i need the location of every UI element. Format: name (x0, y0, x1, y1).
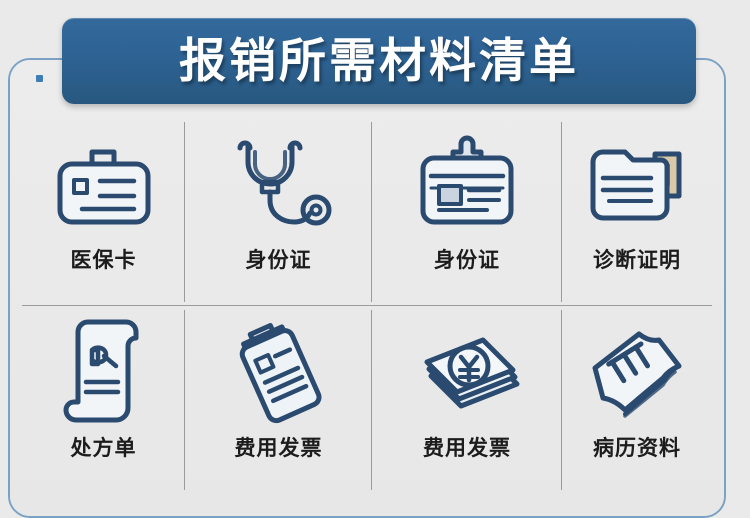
item-label: 身份证 (246, 244, 312, 274)
grid-item-stethoscope[interactable]: 身份证 (185, 118, 372, 306)
item-label: 诊断证明 (593, 244, 681, 274)
diagnosis-document-icon: J (577, 132, 697, 236)
prescription-scroll-icon (44, 320, 164, 424)
grid-item-cash-invoice[interactable]: 费用发票 (372, 306, 562, 494)
item-label: 身份证 (434, 244, 500, 274)
corner-marker-dot (36, 75, 43, 82)
grid-item-id-badge[interactable]: 身份证 (372, 118, 562, 306)
cash-yuan-icon (407, 320, 527, 424)
title-banner: 报销所需材料清单 (62, 18, 696, 104)
medical-records-book-icon (577, 320, 697, 424)
item-label: 处方单 (71, 432, 137, 462)
item-label: 病历资料 (593, 432, 681, 462)
grid-item-prescription[interactable]: 处方单 (22, 306, 185, 494)
item-label: 医保卡 (71, 244, 137, 274)
grid-item-medical-records[interactable]: 病历资料 (562, 306, 712, 494)
id-badge-icon (407, 132, 527, 236)
materials-grid: 医保卡 身份证 (22, 118, 712, 500)
grid-item-insurance-card[interactable]: 医保卡 (22, 118, 185, 306)
grid-item-diagnosis-certificate[interactable]: J 诊断证明 (562, 118, 712, 306)
insurance-card-icon (44, 132, 164, 236)
item-label: 费用发票 (235, 432, 323, 462)
item-label: 费用发票 (423, 432, 511, 462)
page-title: 报销所需材料清单 (179, 38, 579, 85)
invoice-clipboard-icon (219, 320, 339, 424)
stethoscope-icon (219, 132, 339, 236)
grid-item-invoice-clipboard[interactable]: 费用发票 (185, 306, 372, 494)
